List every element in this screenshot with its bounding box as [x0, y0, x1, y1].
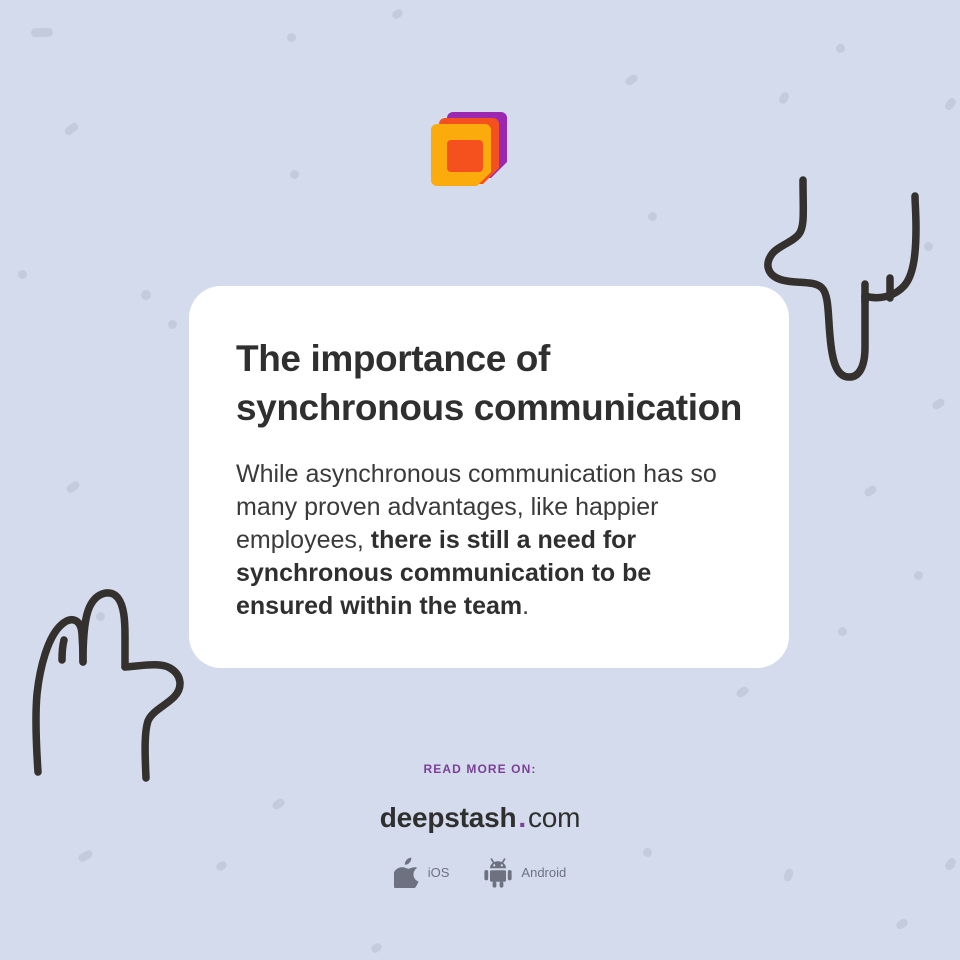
- confetti-speck: [141, 290, 151, 300]
- store-label-android: Android: [521, 865, 566, 880]
- brand-tld: com: [528, 802, 580, 833]
- confetti-speck: [63, 121, 80, 137]
- android-icon: [483, 857, 513, 888]
- confetti-speck: [18, 270, 27, 279]
- confetti-speck: [735, 685, 750, 699]
- poster-canvas: The importance of synchronous communicat…: [0, 0, 960, 960]
- brand-name: deepstash: [380, 802, 517, 833]
- confetti-speck: [895, 917, 909, 930]
- confetti-speck: [836, 44, 845, 53]
- apple-icon: [394, 857, 420, 888]
- confetti-speck: [648, 212, 657, 221]
- deepstash-logo: [429, 104, 519, 194]
- read-more-label: READ MORE ON:: [0, 762, 960, 776]
- page-title: The importance of synchronous communicat…: [236, 334, 742, 432]
- brand-dot: .: [516, 802, 528, 833]
- body-text-plain-end: .: [522, 592, 529, 620]
- confetti-speck: [287, 33, 296, 42]
- confetti-speck: [838, 627, 847, 636]
- store-label-ios: iOS: [428, 865, 450, 880]
- confetti-speck: [370, 942, 384, 955]
- store-badge-ios[interactable]: iOS: [394, 857, 450, 888]
- store-badges: iOS: [0, 857, 960, 888]
- confetti-speck: [914, 571, 923, 580]
- confetti-speck: [778, 91, 791, 105]
- confetti-speck: [391, 8, 405, 21]
- confetti-speck: [168, 320, 177, 329]
- footer: READ MORE ON: deepstash.com iOS: [0, 762, 960, 888]
- confetti-speck: [863, 484, 878, 498]
- confetti-speck: [31, 28, 53, 38]
- confetti-speck: [65, 480, 81, 495]
- confetti-speck: [943, 96, 957, 111]
- store-badge-android[interactable]: Android: [483, 857, 566, 888]
- quote-card: The importance of synchronous communicat…: [189, 286, 789, 668]
- card-body-text: While asynchronous communication has so …: [236, 458, 742, 623]
- confetti-speck: [290, 170, 299, 179]
- pointing-hand-icon-bottom-left: [18, 556, 208, 786]
- brand-wordmark[interactable]: deepstash.com: [0, 802, 960, 834]
- confetti-speck: [624, 73, 639, 87]
